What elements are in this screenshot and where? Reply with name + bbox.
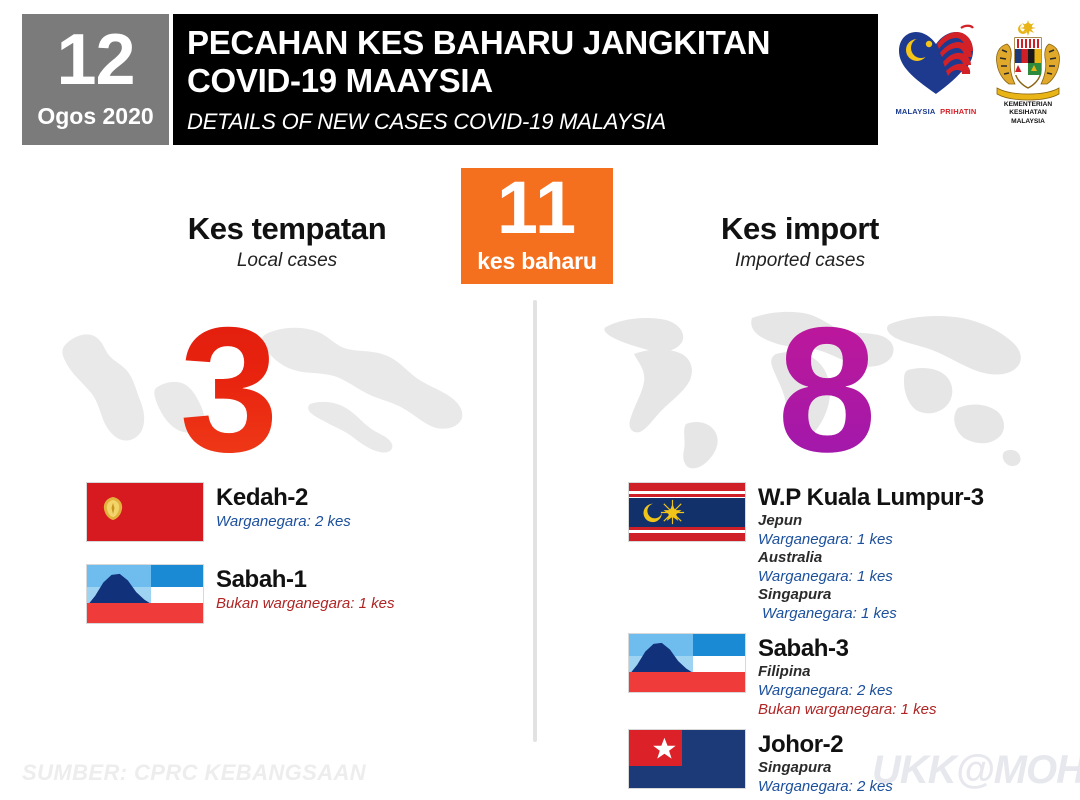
list-item: W.P Kuala Lumpur-3 Jepun Warganegara: 1 … [628, 482, 1058, 623]
local-cases-heading: Kes tempatan Local cases [92, 210, 482, 274]
kl-flag-stripe [629, 533, 745, 541]
entry-title: W.P Kuala Lumpur-3 [758, 484, 1058, 512]
prihatin-label-malaysia: MALAYSIA [895, 107, 935, 116]
prihatin-label-prihatin: PRIHATIN [940, 107, 976, 116]
source-credit: SUMBER: CPRC KEBANGSAAN [22, 760, 366, 786]
entry-detail: Warganegara: 1 kes [758, 567, 1058, 586]
prihatin-heart-icon [893, 22, 979, 100]
kl-flag-band [629, 498, 745, 527]
moh-label-line1: KEMENTERIAN KESIHATAN [1004, 101, 1052, 117]
sabah-flag-white [693, 656, 745, 672]
date-month: Ogos 2020 [22, 102, 169, 130]
new-cases-count: 11 [461, 168, 613, 248]
sabah-flag [86, 564, 204, 624]
sabah-mountain-icon [631, 640, 692, 672]
sabah-flag [628, 633, 746, 693]
date-box: 12 Ogos 2020 [22, 14, 169, 145]
new-cases-badge: 11 kes baharu [461, 168, 613, 284]
moh-logo-label: KEMENTERIAN KESIHATANMALAYSIA [985, 101, 1071, 127]
local-cases-list: Kedah-2 Warganegara: 2 kes Sabah-1 Bukan… [86, 482, 506, 646]
list-item: Sabah-3 Filipina Warganegara: 2 kes Buka… [628, 633, 1058, 719]
list-item: Kedah-2 Warganegara: 2 kes [86, 482, 506, 542]
entry-detail: Warganegara: 1 kes [758, 530, 1058, 549]
sabah-flag-blue [151, 565, 203, 587]
list-item: Sabah-1 Bukan warganegara: 1 kes [86, 564, 506, 624]
imported-heading-title: Kes import [600, 210, 1000, 248]
johor-flag-canton [629, 730, 682, 766]
local-total-number: 3 [2, 292, 452, 488]
sabah-flag-blue [693, 634, 745, 656]
imported-heading-subtitle: Imported cases [600, 248, 1000, 274]
crescent-star-icon [629, 730, 682, 766]
crescent-star-icon [629, 498, 745, 527]
kementerian-kesihatan-logo: KEMENTERIAN KESIHATANMALAYSIA [985, 18, 1071, 128]
entry-text: Sabah-1 Bukan warganegara: 1 kes [216, 564, 506, 613]
imported-total-block: 8 [590, 292, 1040, 482]
sabah-mountain-icon [89, 571, 150, 603]
entry-title: Sabah-3 [758, 635, 1058, 663]
entry-country: Singapura [758, 586, 1058, 604]
entry-title: Kedah-2 [216, 484, 506, 512]
entry-country: Australia [758, 549, 1058, 567]
imported-cases-heading: Kes import Imported cases [600, 210, 1000, 274]
logos-group: MALAYSIA PRIHATIN [893, 18, 1071, 138]
title-subtitle: DETAILS OF NEW CASES COVID-19 MALAYSIA [187, 107, 878, 137]
entry-text: Kedah-2 Warganegara: 2 kes [216, 482, 506, 531]
moh-label-line2: MALAYSIA [1011, 118, 1045, 125]
entry-detail: Bukan warganegara: 1 kes [216, 594, 506, 613]
local-total-block: 3 [60, 292, 510, 482]
entry-country: Filipina [758, 663, 1058, 681]
local-heading-title: Kes tempatan [92, 210, 482, 248]
malaysia-coat-of-arms-icon [985, 18, 1071, 110]
entry-text: Sabah-3 Filipina Warganegara: 2 kes Buka… [758, 633, 1058, 719]
malaysia-prihatin-logo: MALAYSIA PRIHATIN [893, 22, 979, 120]
prihatin-logo-label: MALAYSIA PRIHATIN [893, 107, 979, 116]
entry-detail: Warganegara: 1 kes [758, 604, 1058, 623]
kedah-flag [86, 482, 204, 542]
title-line-1: PECAHAN KES BAHARU JANGKITAN [187, 24, 878, 62]
sabah-flag-red [87, 603, 203, 623]
date-day: 12 [22, 14, 169, 102]
entry-detail: Warganegara: 2 kes [758, 681, 1058, 700]
entry-title: Sabah-1 [216, 566, 506, 594]
kl-flag-stripe [629, 483, 745, 491]
sabah-flag-white [151, 587, 203, 603]
title-box: PECAHAN KES BAHARU JANGKITAN COVID-19 MA… [173, 14, 878, 145]
entry-detail: Warganegara: 2 kes [216, 512, 506, 531]
new-cases-label: kes baharu [461, 248, 613, 274]
entry-detail: Bukan warganegara: 1 kes [758, 700, 1058, 719]
imported-total-number: 8 [600, 292, 1050, 488]
local-heading-subtitle: Local cases [92, 248, 482, 274]
column-divider [533, 300, 537, 742]
kedah-crest-icon [101, 495, 125, 521]
kuala-lumpur-flag [628, 482, 746, 542]
watermark: UKK@MOH [872, 748, 1080, 793]
infographic-page: 12 Ogos 2020 PECAHAN KES BAHARU JANGKITA… [0, 0, 1080, 800]
johor-flag [628, 729, 746, 789]
entry-country: Jepun [758, 512, 1058, 530]
sabah-flag-red [629, 672, 745, 692]
title-line-2: COVID-19 MAAYSIA [187, 62, 878, 100]
header: 12 Ogos 2020 PECAHAN KES BAHARU JANGKITA… [0, 0, 1080, 158]
entry-text: W.P Kuala Lumpur-3 Jepun Warganegara: 1 … [758, 482, 1058, 623]
